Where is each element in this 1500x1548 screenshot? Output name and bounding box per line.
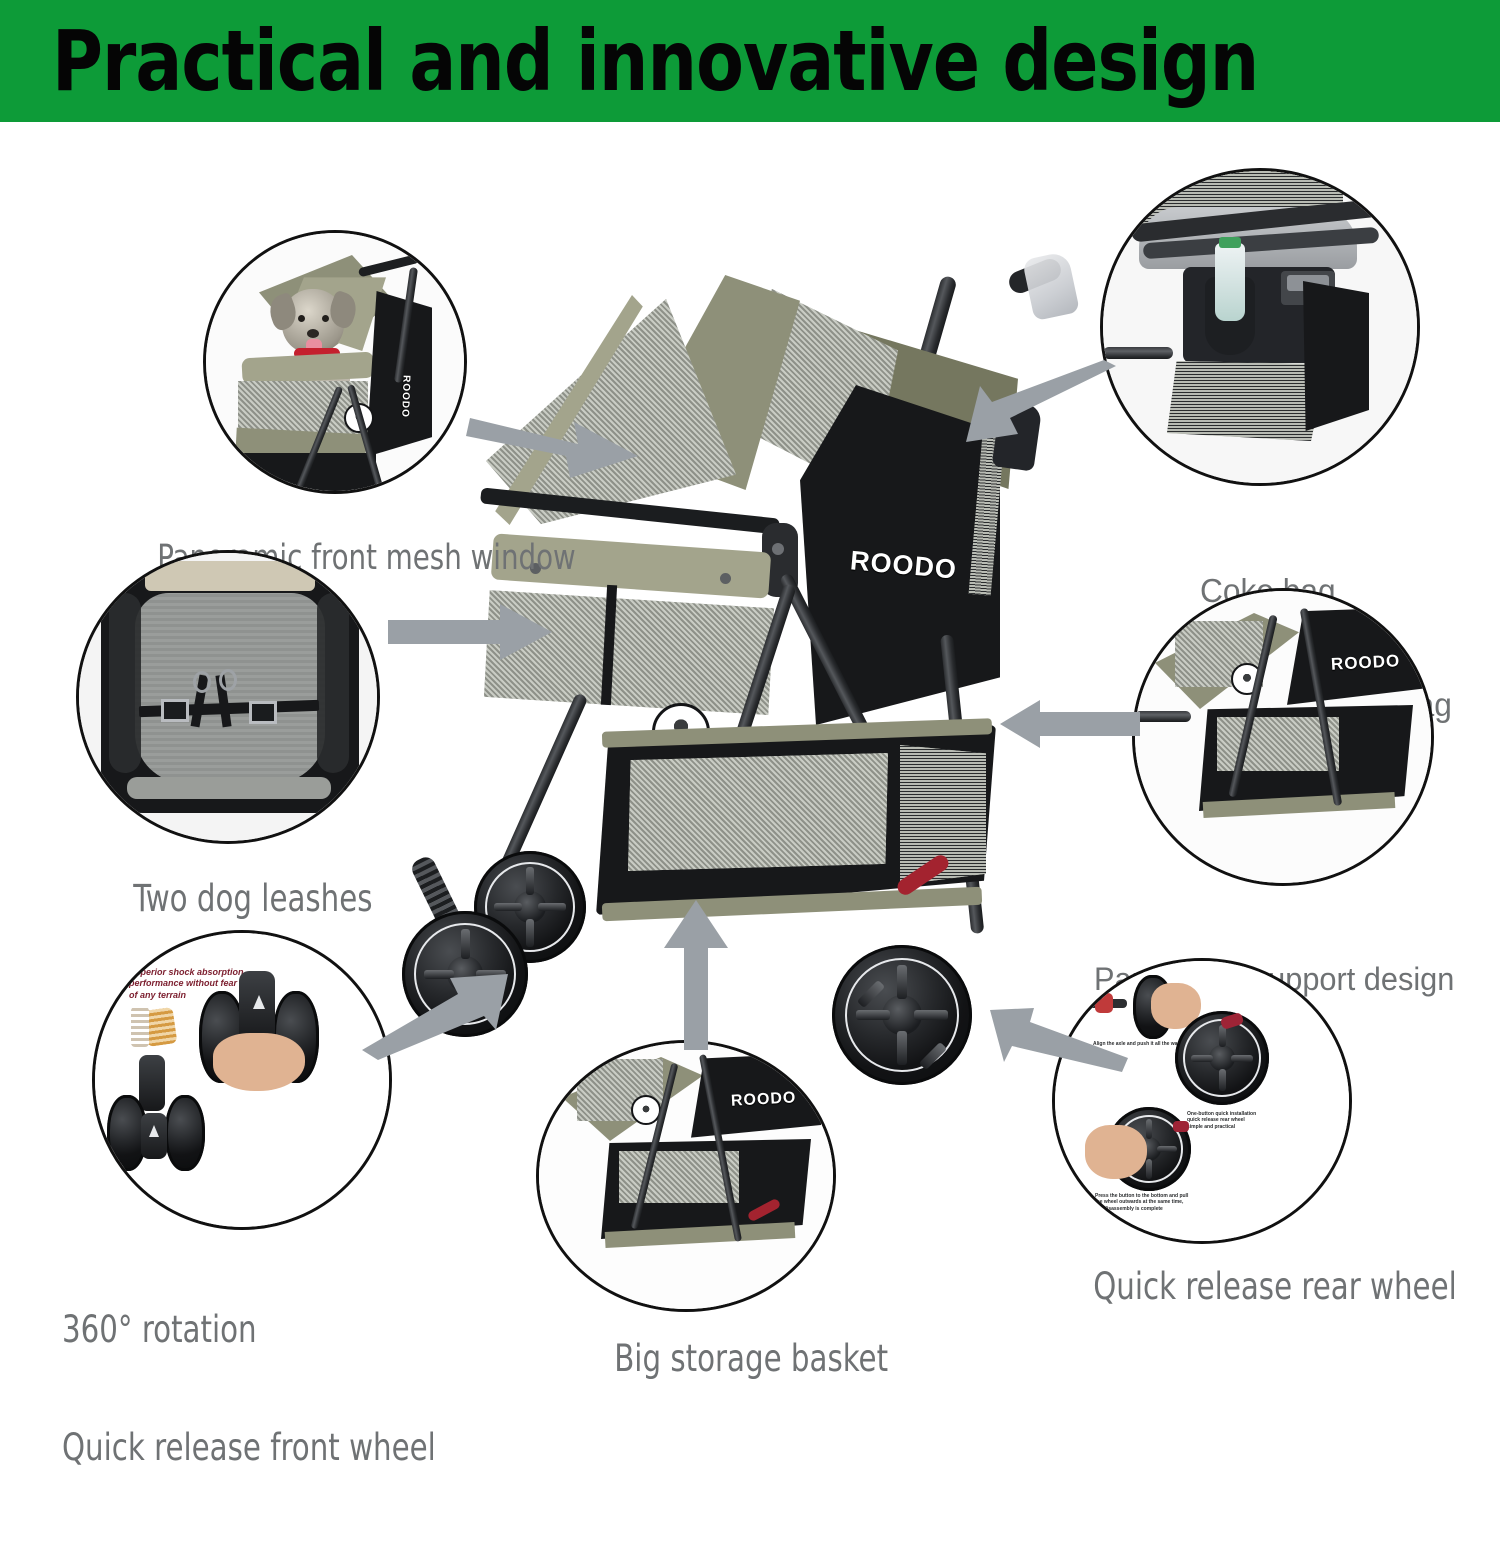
wheel-spoke [1231, 1055, 1253, 1062]
dog-eye-left [298, 315, 305, 322]
coke-inset-frame [1103, 347, 1173, 359]
support-inset-crossbar [1135, 711, 1191, 722]
axle-arrow-up-icon [253, 995, 265, 1009]
feature-photo-panoramic-window: ROODO [203, 230, 467, 494]
wheel-spoke [914, 1010, 948, 1020]
caption-rear-wheel: Quick release rear wheel [1056, 1228, 1457, 1346]
bottle-cap-icon [1219, 237, 1241, 248]
arrow-panoramic-to-product [466, 392, 646, 488]
feature-photo-parallel-support: ROODO [1132, 588, 1434, 886]
page-title: Practical and innovative design [52, 19, 1258, 103]
rear-detail-red-button-2 [1173, 1121, 1189, 1132]
arrow-parallelsupport-to-product [1000, 700, 1140, 748]
photo-content: Superior shock absorption performance wi… [95, 933, 389, 1227]
caption-line-2: Quick release front wheel [62, 1428, 436, 1467]
feature-photo-front-wheel: Superior shock absorption performance wi… [92, 930, 392, 1230]
leash-bottom-trim [127, 777, 331, 799]
wheel-spoke [1146, 1159, 1152, 1179]
caption-front-wheel: 360° rotation Quick release front wheel [62, 1232, 436, 1546]
annotation-press-button: Press the button to the bottom and pull … [1095, 1193, 1188, 1212]
wheel-spoke [461, 929, 470, 959]
wheel-spoke [1219, 1069, 1226, 1091]
caption-line-1: 360° rotation [62, 1310, 436, 1349]
photo-content [1103, 171, 1417, 483]
arrow-leashes-to-product [388, 602, 556, 666]
header-banner: Practical and innovative design [0, 0, 1500, 122]
hand-press-button [1085, 1125, 1147, 1179]
detail-axle-bottom [139, 1055, 165, 1111]
dog-logo-icon [641, 1105, 652, 1116]
basket-inset-brand: ROODO [731, 1089, 797, 1110]
support-inset-brand: ROODO [1331, 651, 1401, 675]
arrow-basket-to-product [660, 900, 732, 1050]
photo-content: ROODO [1135, 591, 1431, 883]
photo-content: ROODO [206, 233, 464, 491]
rear-wheel [832, 945, 972, 1085]
coke-inset-bottom-mesh [1167, 361, 1327, 441]
dog-logo-icon [1241, 673, 1253, 685]
leash-hook-left [193, 671, 211, 693]
wheel-spoke [1157, 1146, 1177, 1152]
wheel-spoke [1146, 1119, 1152, 1139]
spine-diagram [131, 1007, 149, 1047]
hand-top [213, 1033, 305, 1091]
wheel-spoke [897, 1031, 907, 1065]
leash-headrest [145, 561, 315, 591]
wheel-spoke [526, 867, 534, 895]
leash-hook-right [219, 669, 237, 691]
harness-buckle-left [161, 699, 189, 722]
basket-mesh-front [628, 753, 888, 871]
infographic-page: Practical and innovative design [0, 0, 1500, 1395]
arrow-frontwheel-to-product [362, 968, 512, 1060]
annotation-one-button: One-button quick installation quick rele… [1187, 1111, 1256, 1130]
wheel-spoke [856, 1010, 890, 1020]
coke-inset-right-panel [1303, 281, 1369, 431]
wheel-spoke [897, 965, 907, 999]
arrow-cokebag-to-product [966, 360, 1116, 452]
wheel-spoke [538, 903, 566, 911]
wheel-spoke [526, 919, 534, 947]
inset-cabin-band [241, 352, 374, 385]
feature-photo-storage-basket: ROODO [536, 1040, 836, 1312]
feature-photo-two-dog-leashes [76, 550, 380, 844]
caption-storage-basket: Big storage basket [577, 1300, 888, 1418]
leash-side-mesh-left [109, 593, 141, 773]
photo-content [79, 553, 377, 841]
photo-content: ROODO [539, 1043, 833, 1309]
wheel-spoke [494, 903, 522, 911]
dog-nose [307, 329, 319, 338]
arrow-rearwheel-to-product [990, 1000, 1130, 1072]
feature-photo-coke-bag [1100, 168, 1420, 486]
band-rivet-r [720, 573, 731, 584]
hinge-rivet [772, 543, 784, 555]
handle-wrap [1022, 251, 1080, 321]
axle-arrow-up-icon-2 [149, 1125, 159, 1137]
detail-wheel-bottom-right [165, 1095, 205, 1171]
wheel-spoke [1191, 1055, 1213, 1062]
leash-side-mesh-right [317, 593, 349, 773]
dog-eye-right [322, 315, 329, 322]
harness-buckle-right [249, 701, 277, 724]
water-bottle [1215, 243, 1245, 321]
